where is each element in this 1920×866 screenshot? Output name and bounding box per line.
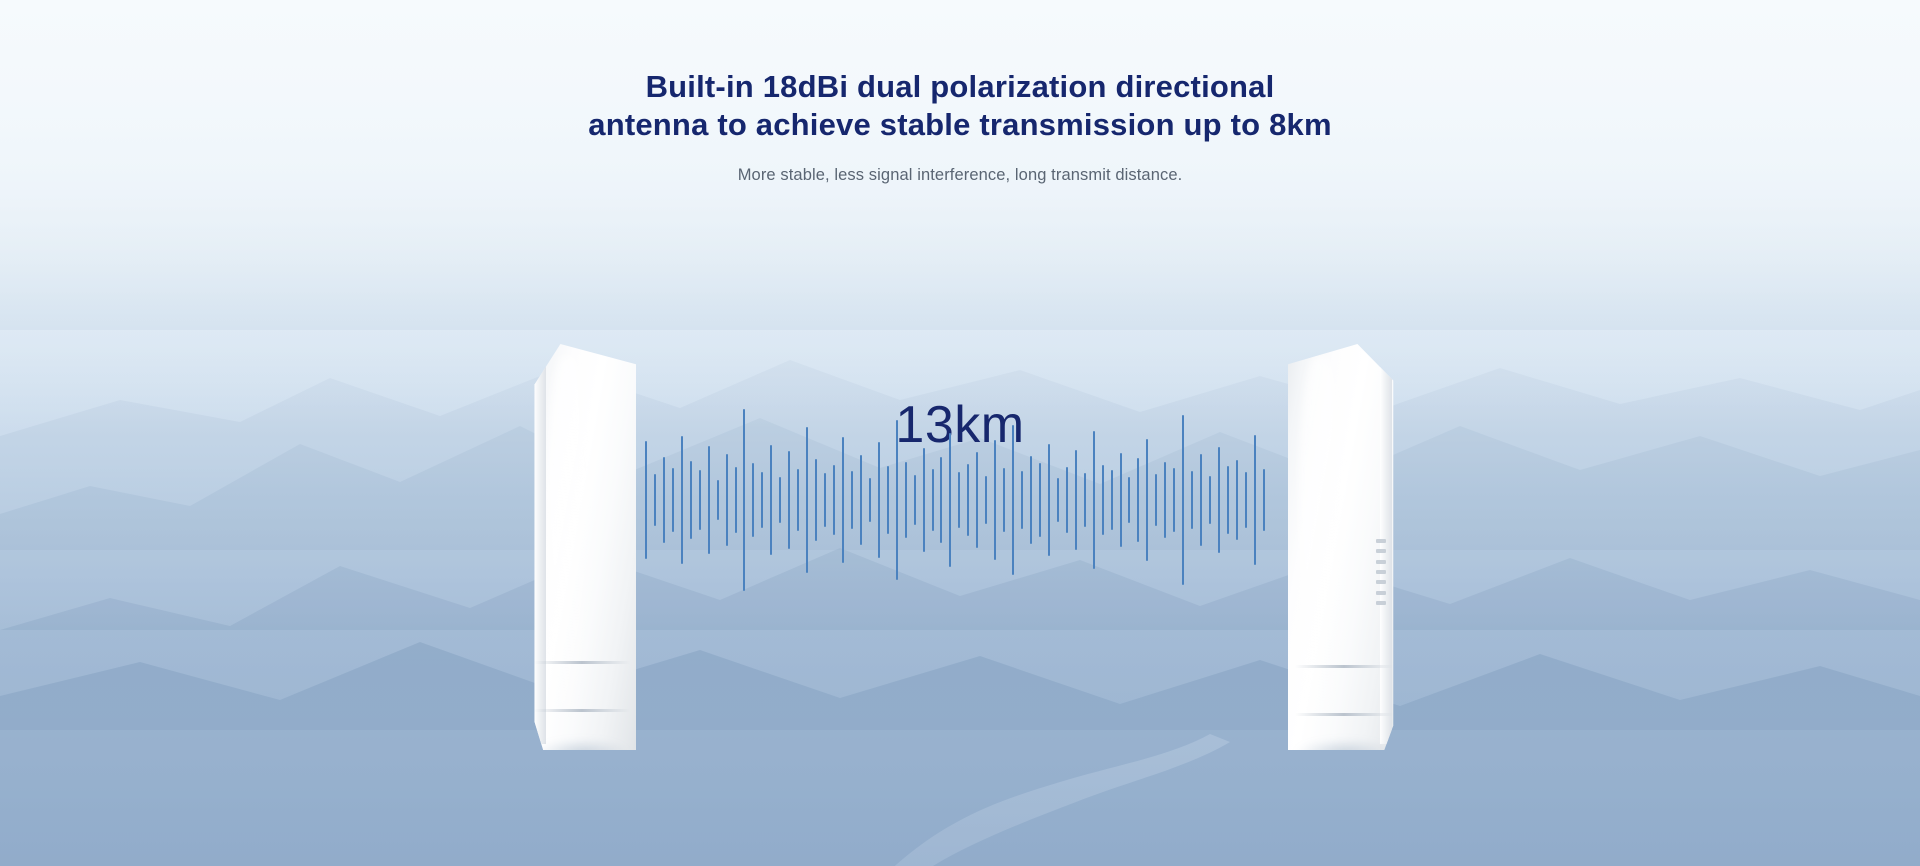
cpe-left-seam-lower bbox=[534, 709, 629, 712]
signal-bar bbox=[842, 437, 844, 563]
cpe-device-right bbox=[1288, 344, 1400, 750]
signal-bar bbox=[949, 433, 951, 567]
signal-bar bbox=[869, 478, 871, 522]
signal-waveform bbox=[645, 400, 1265, 600]
cpe-right-led bbox=[1376, 570, 1386, 574]
signal-bar bbox=[1245, 472, 1247, 528]
signal-bar bbox=[932, 469, 934, 531]
signal-bar bbox=[1155, 474, 1157, 526]
signal-bar bbox=[1209, 476, 1211, 524]
signal-bar bbox=[1227, 466, 1229, 534]
signal-bar bbox=[770, 445, 772, 555]
signal-bar bbox=[1066, 467, 1068, 533]
signal-bar bbox=[1039, 463, 1041, 537]
signal-bar bbox=[1120, 453, 1122, 547]
signal-bar bbox=[699, 470, 701, 530]
cpe-right-led bbox=[1376, 560, 1386, 564]
signal-bar bbox=[1111, 470, 1113, 530]
signal-bar bbox=[1164, 462, 1166, 538]
promo-banner: Built-in 18dBi dual polarization directi… bbox=[0, 0, 1920, 866]
signal-bar bbox=[1030, 456, 1032, 544]
signal-bar bbox=[1012, 425, 1014, 575]
signal-bar bbox=[824, 473, 826, 527]
signal-bar bbox=[1200, 454, 1202, 546]
page-title-line-2: antenna to achieve stable transmission u… bbox=[0, 106, 1920, 144]
signal-bar bbox=[743, 409, 745, 591]
signal-bar bbox=[726, 454, 728, 546]
signal-bar bbox=[896, 420, 898, 580]
signal-bar bbox=[860, 455, 862, 545]
signal-bar bbox=[1137, 458, 1139, 542]
signal-bar bbox=[1146, 439, 1148, 561]
signal-bar bbox=[923, 448, 925, 552]
cpe-right-seam-upper bbox=[1295, 665, 1394, 668]
signal-bar bbox=[1254, 435, 1256, 565]
page-title-line-1: Built-in 18dBi dual polarization directi… bbox=[0, 68, 1920, 106]
signal-bar bbox=[1075, 450, 1077, 550]
signal-bar bbox=[708, 446, 710, 554]
signal-bar bbox=[905, 462, 907, 538]
signal-bar bbox=[797, 469, 799, 531]
signal-bar bbox=[914, 475, 916, 525]
signal-bar bbox=[887, 466, 889, 534]
signal-bar bbox=[851, 471, 853, 529]
signal-bar bbox=[761, 472, 763, 528]
signal-bar bbox=[654, 474, 656, 526]
cpe-device-left bbox=[528, 344, 636, 750]
signal-bar bbox=[1048, 444, 1050, 556]
signal-bar bbox=[1236, 460, 1238, 540]
page-title: Built-in 18dBi dual polarization directi… bbox=[0, 68, 1920, 145]
signal-bar bbox=[1057, 478, 1059, 522]
signal-bar bbox=[940, 457, 942, 543]
cpe-left-shadow bbox=[537, 740, 628, 766]
signal-bar bbox=[985, 476, 987, 524]
signal-bar bbox=[806, 427, 808, 573]
signal-bar bbox=[976, 452, 978, 548]
signal-bar bbox=[994, 440, 996, 560]
signal-bar bbox=[690, 461, 692, 539]
signal-bar bbox=[645, 441, 647, 559]
signal-bar bbox=[1021, 471, 1023, 529]
cpe-right-led bbox=[1376, 549, 1386, 553]
signal-bar bbox=[1263, 469, 1265, 531]
signal-bar bbox=[788, 451, 790, 549]
cpe-right-gloss bbox=[1299, 356, 1342, 717]
cpe-right-led bbox=[1376, 539, 1386, 543]
signal-bar bbox=[735, 467, 737, 533]
cpe-right-shadow bbox=[1297, 740, 1391, 766]
signal-bar bbox=[815, 459, 817, 541]
signal-bar bbox=[752, 463, 754, 537]
signal-bar bbox=[672, 468, 674, 532]
signal-bar bbox=[663, 457, 665, 543]
signal-bar bbox=[1003, 468, 1005, 532]
signal-bar bbox=[833, 465, 835, 535]
signal-bar bbox=[1093, 431, 1095, 569]
signal-bar bbox=[878, 442, 880, 558]
signal-bar bbox=[1218, 447, 1220, 553]
signal-bar bbox=[1182, 415, 1184, 585]
cpe-right-led bbox=[1376, 580, 1386, 584]
signal-bar bbox=[1128, 477, 1130, 523]
cpe-right-led bbox=[1376, 591, 1386, 595]
signal-bar bbox=[1191, 471, 1193, 529]
heading-block: Built-in 18dBi dual polarization directi… bbox=[0, 0, 1920, 185]
cpe-left-edge bbox=[534, 350, 546, 744]
cpe-right-led bbox=[1376, 601, 1386, 605]
page-subtitle: More stable, less signal interference, l… bbox=[0, 166, 1920, 185]
signal-bar bbox=[1173, 468, 1175, 532]
signal-bar bbox=[958, 472, 960, 528]
cpe-right-led-indicators bbox=[1376, 539, 1386, 605]
cpe-right-seam-lower bbox=[1295, 713, 1394, 716]
signal-bar bbox=[1102, 465, 1104, 535]
signal-bar bbox=[681, 436, 683, 564]
signal-bar bbox=[967, 464, 969, 536]
signal-bar bbox=[717, 480, 719, 520]
cpe-left-seam-upper bbox=[534, 661, 629, 664]
signal-bar bbox=[1084, 473, 1086, 527]
atmospheric-haze-bottom bbox=[0, 616, 1920, 866]
signal-bar bbox=[779, 477, 781, 523]
